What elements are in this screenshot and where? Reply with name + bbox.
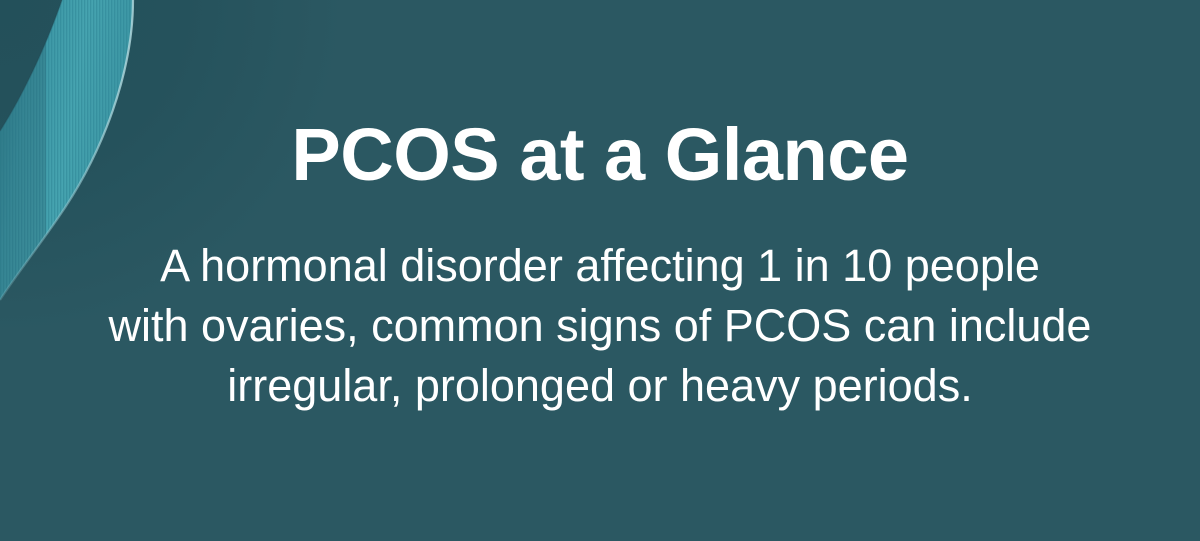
- pcos-info-card: PCOS at a Glance A hormonal disorder aff…: [0, 0, 1200, 541]
- page-title: PCOS at a Glance: [291, 0, 908, 192]
- body-copy: A hormonal disorder affecting 1 in 10 pe…: [70, 192, 1130, 416]
- body-line-3: irregular, prolonged or heavy periods.: [70, 356, 1130, 416]
- card-content: PCOS at a Glance A hormonal disorder aff…: [0, 0, 1200, 541]
- body-line-1: A hormonal disorder affecting 1 in 10 pe…: [70, 236, 1130, 296]
- body-line-2: with ovaries, common signs of PCOS can i…: [70, 296, 1130, 356]
